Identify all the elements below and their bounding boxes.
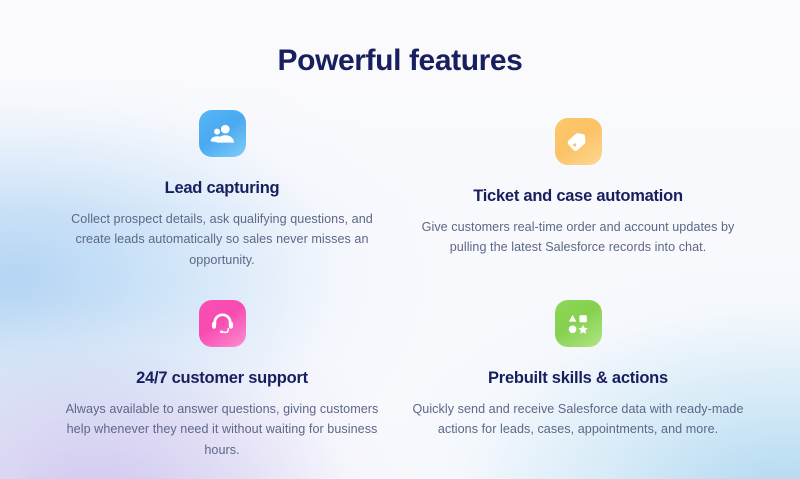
- page-title: Powerful features: [0, 44, 800, 78]
- features-section: Powerful features Lead capturing Collect…: [0, 0, 800, 479]
- feature-description-ticket-automation: Give customers real-time order and accou…: [396, 217, 760, 258]
- shapes-icon: [565, 311, 591, 337]
- feature-description-lead-capturing: Collect prospect details, ask qualifying…: [40, 209, 404, 270]
- feature-title-ticket-automation: Ticket and case automation: [396, 187, 760, 207]
- feature-icon-tile-customer-support: [199, 300, 246, 347]
- feature-title-prebuilt-skills: Prebuilt skills & actions: [396, 369, 760, 389]
- feature-card-prebuilt-skills: Prebuilt skills & actions Quickly send a…: [396, 300, 760, 440]
- feature-card-ticket-automation: Ticket and case automation Give customer…: [396, 118, 760, 258]
- feature-icon-tile-lead-capturing: [199, 110, 246, 157]
- feature-description-customer-support: Always available to answer questions, gi…: [40, 399, 404, 460]
- tag-icon: [565, 129, 591, 155]
- headset-icon: [209, 310, 236, 337]
- feature-description-prebuilt-skills: Quickly send and receive Salesforce data…: [396, 399, 760, 440]
- feature-card-lead-capturing: Lead capturing Collect prospect details,…: [40, 110, 404, 270]
- feature-title-customer-support: 24/7 customer support: [40, 369, 404, 389]
- feature-icon-tile-prebuilt-skills: [555, 300, 602, 347]
- feature-title-lead-capturing: Lead capturing: [40, 179, 404, 199]
- feature-icon-tile-ticket-automation: [555, 118, 602, 165]
- people-group-icon: [208, 120, 236, 148]
- feature-card-customer-support: 24/7 customer support Always available t…: [40, 300, 404, 460]
